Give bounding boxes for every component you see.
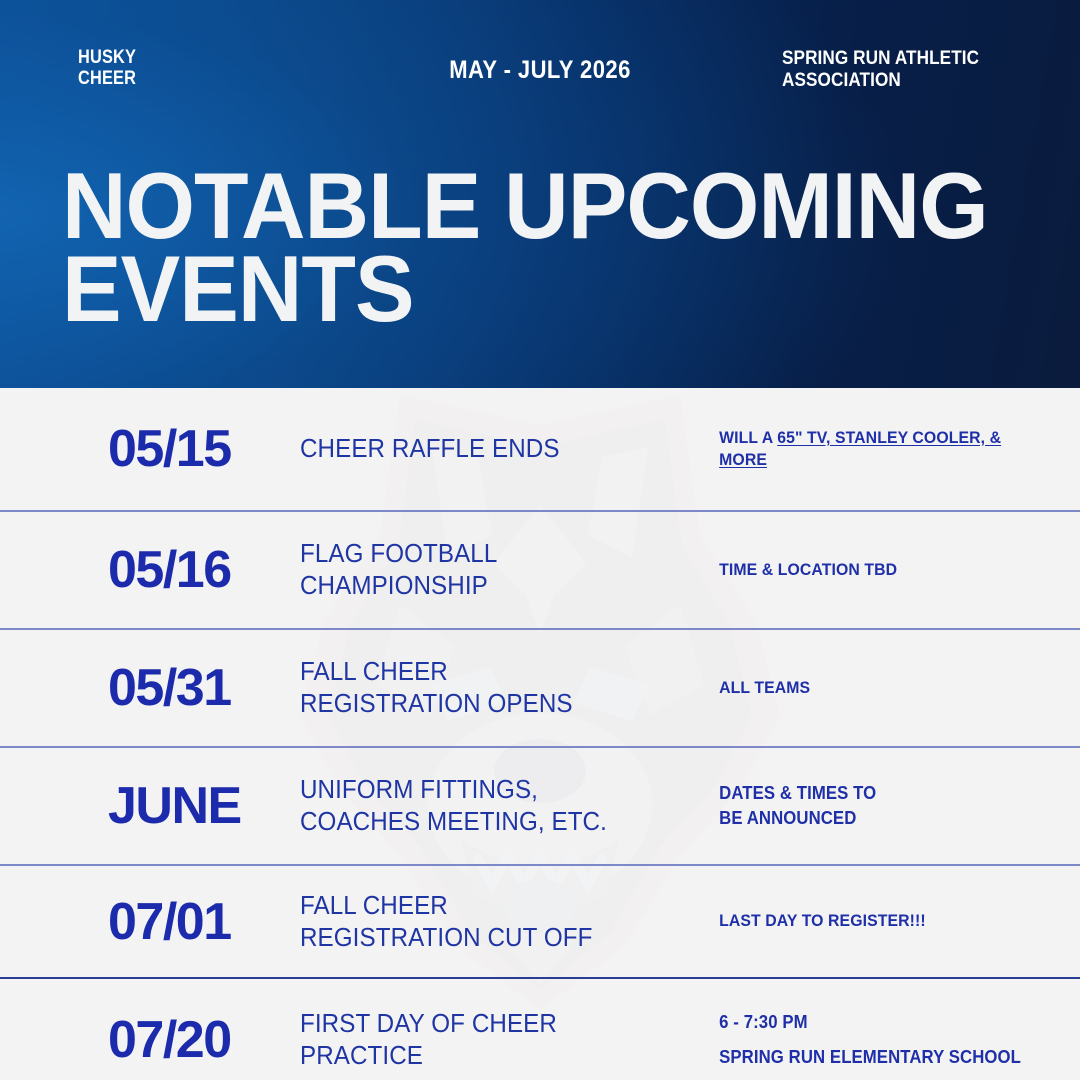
event-date: 07/01: [0, 896, 300, 948]
poster-header: HUSKY CHEER MAY - JULY 2026 SPRING RUN A…: [0, 0, 1080, 388]
event-poster: HUSKY CHEER MAY - JULY 2026 SPRING RUN A…: [0, 0, 1080, 1080]
events-table: 05/15 CHEER RAFFLE ENDS WILL A 65" TV, S…: [0, 388, 1080, 1080]
event-date: 07/20: [0, 1014, 300, 1066]
event-date: 05/31: [0, 662, 300, 714]
event-date: 05/16: [0, 544, 300, 596]
event-title: FALL CHEER REGISTRATION CUT OFF: [300, 890, 679, 953]
table-row: JUNE UNIFORM FITTINGS, COACHES MEETING, …: [0, 748, 1080, 866]
event-date: 05/15: [0, 423, 300, 475]
event-note-time: 6 - 7:30 PM: [719, 1010, 1026, 1035]
event-title: FALL CHEER REGISTRATION OPENS: [300, 656, 679, 719]
event-note: WILL A 65" TV, STANLEY COOLER, & MORE: [708, 427, 1054, 471]
event-date: JUNE: [0, 780, 300, 832]
event-title: CHEER RAFFLE ENDS: [300, 433, 679, 465]
table-row: 07/01 FALL CHEER REGISTRATION CUT OFF LA…: [0, 866, 1080, 979]
note-spacer: [719, 1035, 1026, 1045]
event-title: FIRST DAY OF CHEER PRACTICE: [300, 1008, 679, 1071]
table-row: 05/16 FLAG FOOTBALL CHAMPIONSHIP TIME & …: [0, 512, 1080, 630]
event-note: LAST DAY TO REGISTER!!!: [708, 910, 1054, 932]
page-title: NOTABLE UPCOMING EVENTS: [62, 165, 1012, 330]
event-note-prefix: WILL A: [719, 428, 777, 447]
event-note-place: SPRING RUN ELEMENTARY SCHOOL: [719, 1045, 1026, 1070]
header-top-bar: HUSKY CHEER MAY - JULY 2026 SPRING RUN A…: [0, 48, 1080, 108]
organization-label: SPRING RUN ATHLETIC ASSOCIATION: [782, 48, 1046, 92]
table-row: 07/20 FIRST DAY OF CHEER PRACTICE 6 - 7:…: [0, 979, 1080, 1080]
event-note: TIME & LOCATION TBD: [708, 559, 1054, 581]
event-note: ALL TEAMS: [708, 677, 1054, 699]
event-title: FLAG FOOTBALL CHAMPIONSHIP: [300, 538, 679, 601]
event-title: UNIFORM FITTINGS, COACHES MEETING, ETC.: [300, 774, 679, 837]
event-note: 6 - 7:30 PMSPRING RUN ELEMENTARY SCHOOL: [708, 1010, 1054, 1070]
table-row: 05/15 CHEER RAFFLE ENDS WILL A 65" TV, S…: [0, 388, 1080, 512]
event-note: DATES & TIMES TO BE ANNOUNCED: [708, 781, 1054, 831]
table-row: 05/31 FALL CHEER REGISTRATION OPENS ALL …: [0, 630, 1080, 748]
